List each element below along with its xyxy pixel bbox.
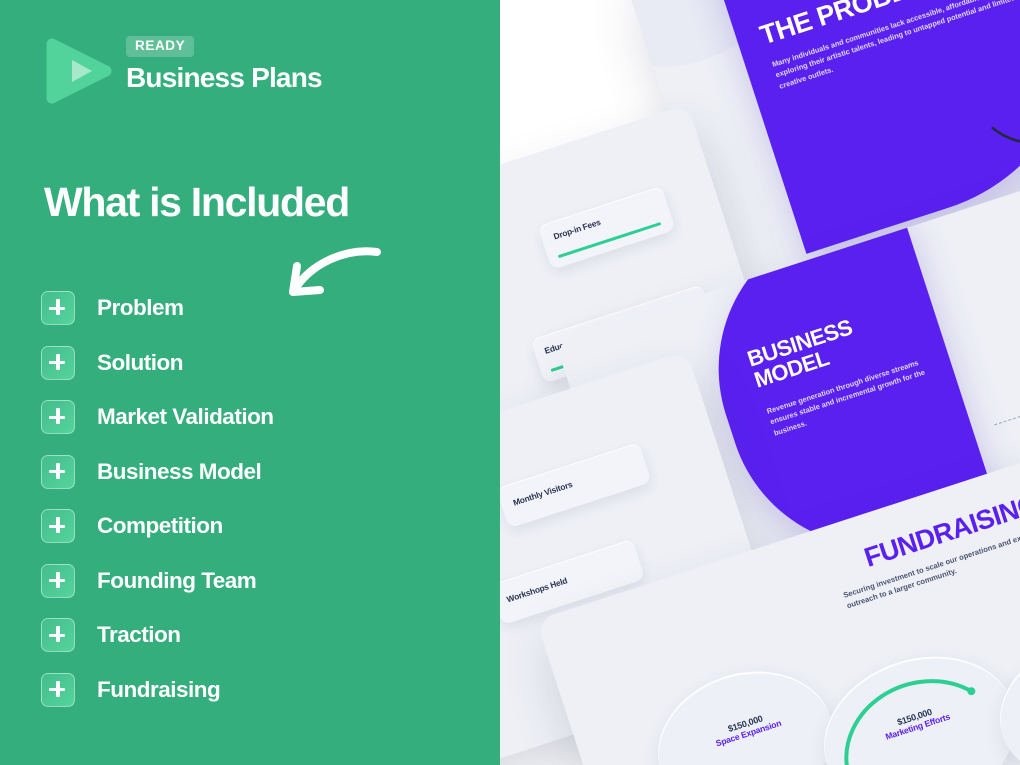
slide-collage: THE PROBLEM Many individuals and communi… xyxy=(500,0,1020,765)
list-item-problem[interactable]: Problem xyxy=(41,281,471,336)
list-item-label: Solution xyxy=(97,350,183,376)
list-item-founding-team[interactable]: Founding Team xyxy=(41,554,471,609)
list-item-market-validation[interactable]: Market Validation xyxy=(41,390,471,445)
brand-title: Business Plans xyxy=(126,64,376,92)
plus-icon xyxy=(41,509,75,543)
list-item-competition[interactable]: Competition xyxy=(41,499,471,554)
list-item-label: Competition xyxy=(97,513,223,539)
collage-canvas: THE PROBLEM Many individuals and communi… xyxy=(500,0,1020,765)
brand-lockup: READY Business Plans xyxy=(46,36,376,108)
included-checklist: Problem Solution Market Validation Busin… xyxy=(41,281,471,717)
list-item-label: Market Validation xyxy=(97,404,274,430)
plus-icon xyxy=(41,346,75,380)
brand-text-block: READY Business Plans xyxy=(126,36,376,92)
list-item-label: Problem xyxy=(97,295,184,321)
plus-icon xyxy=(41,564,75,598)
list-item-label: Business Model xyxy=(97,459,261,485)
list-item-business-model[interactable]: Business Model xyxy=(41,445,471,500)
plus-icon xyxy=(41,291,75,325)
list-item-fundraising[interactable]: Fundraising xyxy=(41,663,471,718)
traction-pill-0[interactable] xyxy=(500,442,652,528)
play-triangle-icon xyxy=(46,38,112,104)
plus-icon xyxy=(41,455,75,489)
plus-icon xyxy=(41,400,75,434)
list-item-solution[interactable]: Solution xyxy=(41,336,471,391)
screenshot-root: THE PROBLEM Many individuals and communi… xyxy=(0,0,1020,765)
list-item-label: Traction xyxy=(97,622,181,648)
market-pill-0[interactable] xyxy=(538,186,676,270)
ready-badge: READY xyxy=(126,36,194,57)
business-model-connector xyxy=(994,405,1020,425)
plus-icon xyxy=(41,673,75,707)
left-green-panel: READY Business Plans What is Included Pr… xyxy=(0,0,500,765)
list-item-traction[interactable]: Traction xyxy=(41,608,471,663)
plus-icon xyxy=(41,618,75,652)
list-item-label: Fundraising xyxy=(97,677,220,703)
page-title: What is Included xyxy=(44,182,464,223)
list-item-label: Founding Team xyxy=(97,568,256,594)
